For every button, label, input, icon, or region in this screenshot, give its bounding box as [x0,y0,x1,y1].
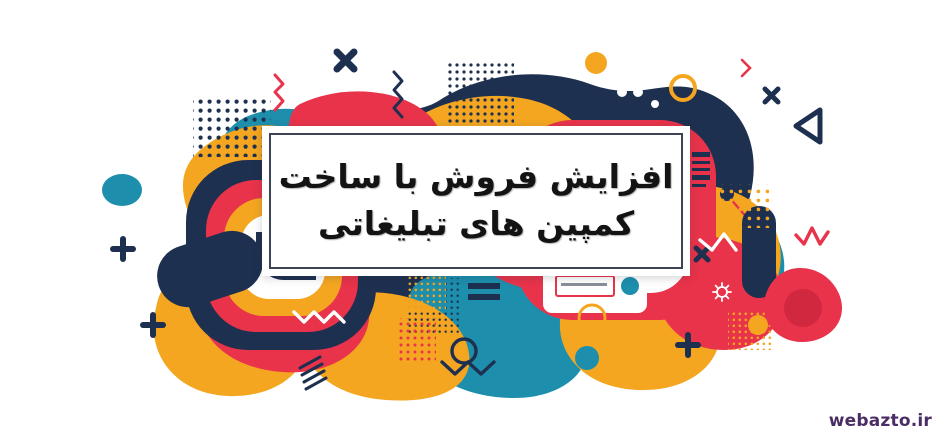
halftone-orange-left [406,276,446,310]
orange-dot-icon-bottom [748,315,768,335]
halftone-red-bottomleft [396,318,436,362]
headline-line-1: افزایش فروش با ساخت [279,159,674,196]
orange-dot-icon-top [585,52,607,74]
teal-dot-icon-bottom [575,346,599,370]
site-watermark: webazto.ir [829,411,932,431]
teal-dot-icon [102,174,142,206]
teardrop-inner-dot [784,289,822,327]
headline-line-2: کمپین های تبلیغاتی [318,206,634,243]
promotional-banner: افزایش فروش با ساخت کمپین های تبلیغاتی w… [0,0,950,440]
headline-card-inner: افزایش فروش با ساخت کمپین های تبلیغاتی [269,133,683,269]
headline-card: افزایش فروش با ساخت کمپین های تبلیغاتی [262,126,690,276]
halftone-navy-topleft [193,95,271,157]
halftone-yellow-topright [720,184,774,228]
